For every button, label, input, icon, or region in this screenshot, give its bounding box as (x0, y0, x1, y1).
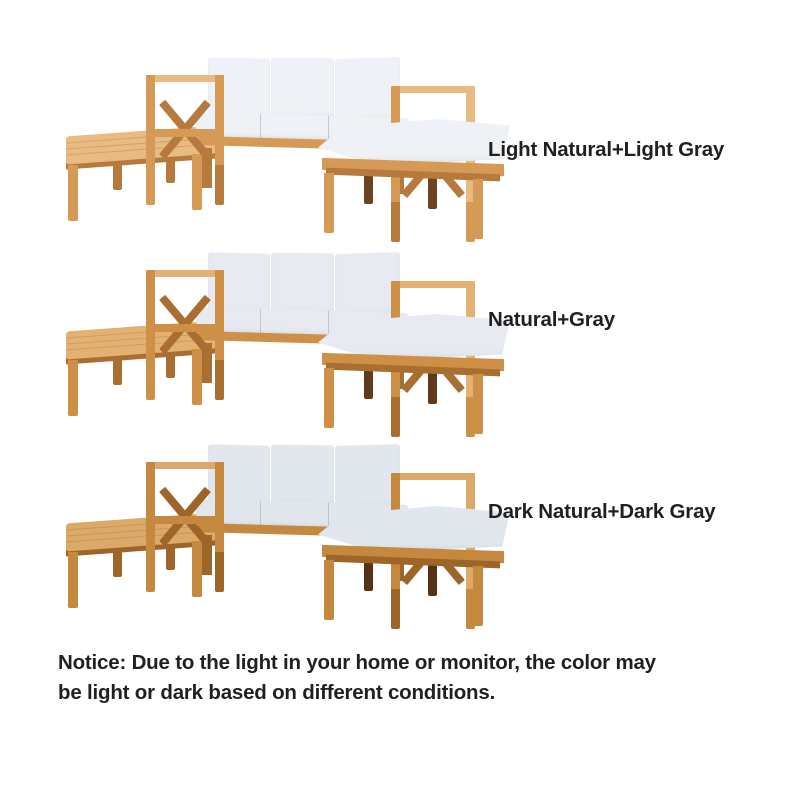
variant-row-0: Light Natural+Light Gray (0, 45, 800, 235)
arm-post (215, 75, 224, 171)
back-cushions (208, 58, 400, 120)
notice-text: Notice: Due to the light in your home or… (58, 648, 758, 708)
sectional-sofa (146, 440, 458, 615)
sectional-sofa (146, 53, 458, 228)
notice-line-1: Notice: Due to the light in your home or… (58, 648, 758, 678)
furniture-set-illustration (58, 45, 478, 235)
arm-post (146, 270, 155, 366)
arm-top-rail (146, 462, 224, 469)
arm-post (146, 462, 155, 558)
chaise-ottoman (318, 119, 510, 237)
arm-leg (215, 360, 224, 400)
variant-label-0: Light Natural+Light Gray (488, 138, 788, 162)
furniture-set-illustration (58, 432, 478, 622)
arm-post (146, 75, 155, 171)
back-cushion (271, 58, 334, 121)
back-cushions (208, 445, 400, 507)
variant-row-2: Dark Natural+Dark Gray (0, 432, 800, 622)
sectional-sofa (146, 248, 458, 423)
arm-top-rail (146, 270, 224, 277)
arm-bottom-rail (146, 324, 224, 332)
arm-post (215, 270, 224, 366)
variant-label-1: Natural+Gray (488, 308, 788, 332)
arm-leg (146, 165, 155, 205)
arm-top-rail (391, 281, 475, 288)
back-cushion (271, 253, 334, 316)
chaise-ottoman (318, 506, 510, 624)
sofa-arm-left (146, 462, 224, 558)
arm-bottom-rail (146, 129, 224, 137)
ottoman-leg-front-right (473, 179, 483, 239)
arm-post (215, 462, 224, 558)
table-leg-front-left (68, 360, 78, 416)
ottoman-leg-front-right (473, 566, 483, 626)
furniture-set-illustration (58, 240, 478, 430)
arm-leg (215, 165, 224, 205)
ottoman-leg-front-left (324, 560, 334, 620)
back-cushion (271, 445, 334, 508)
ottoman-leg-front-right (473, 374, 483, 434)
arm-top-rail (146, 75, 224, 82)
arm-leg (215, 552, 224, 592)
sofa-arm-left (146, 270, 224, 366)
arm-top-rail (391, 473, 475, 480)
arm-leg (146, 552, 155, 592)
ottoman-leg-front-left (324, 173, 334, 233)
variant-label-2: Dark Natural+Dark Gray (488, 500, 788, 524)
table-leg-front-left (68, 165, 78, 221)
notice-line-2: be light or dark based on different cond… (58, 678, 758, 708)
variant-row-1: Natural+Gray (0, 240, 800, 430)
arm-leg (146, 360, 155, 400)
arm-bottom-rail (146, 516, 224, 524)
back-cushions (208, 253, 400, 315)
product-color-variant-sheet: Light Natural+Light Gray (0, 0, 800, 800)
table-leg-front-left (68, 552, 78, 608)
sofa-arm-left (146, 75, 224, 171)
ottoman-leg-front-left (324, 368, 334, 428)
arm-top-rail (391, 86, 475, 93)
chaise-ottoman (318, 314, 510, 432)
